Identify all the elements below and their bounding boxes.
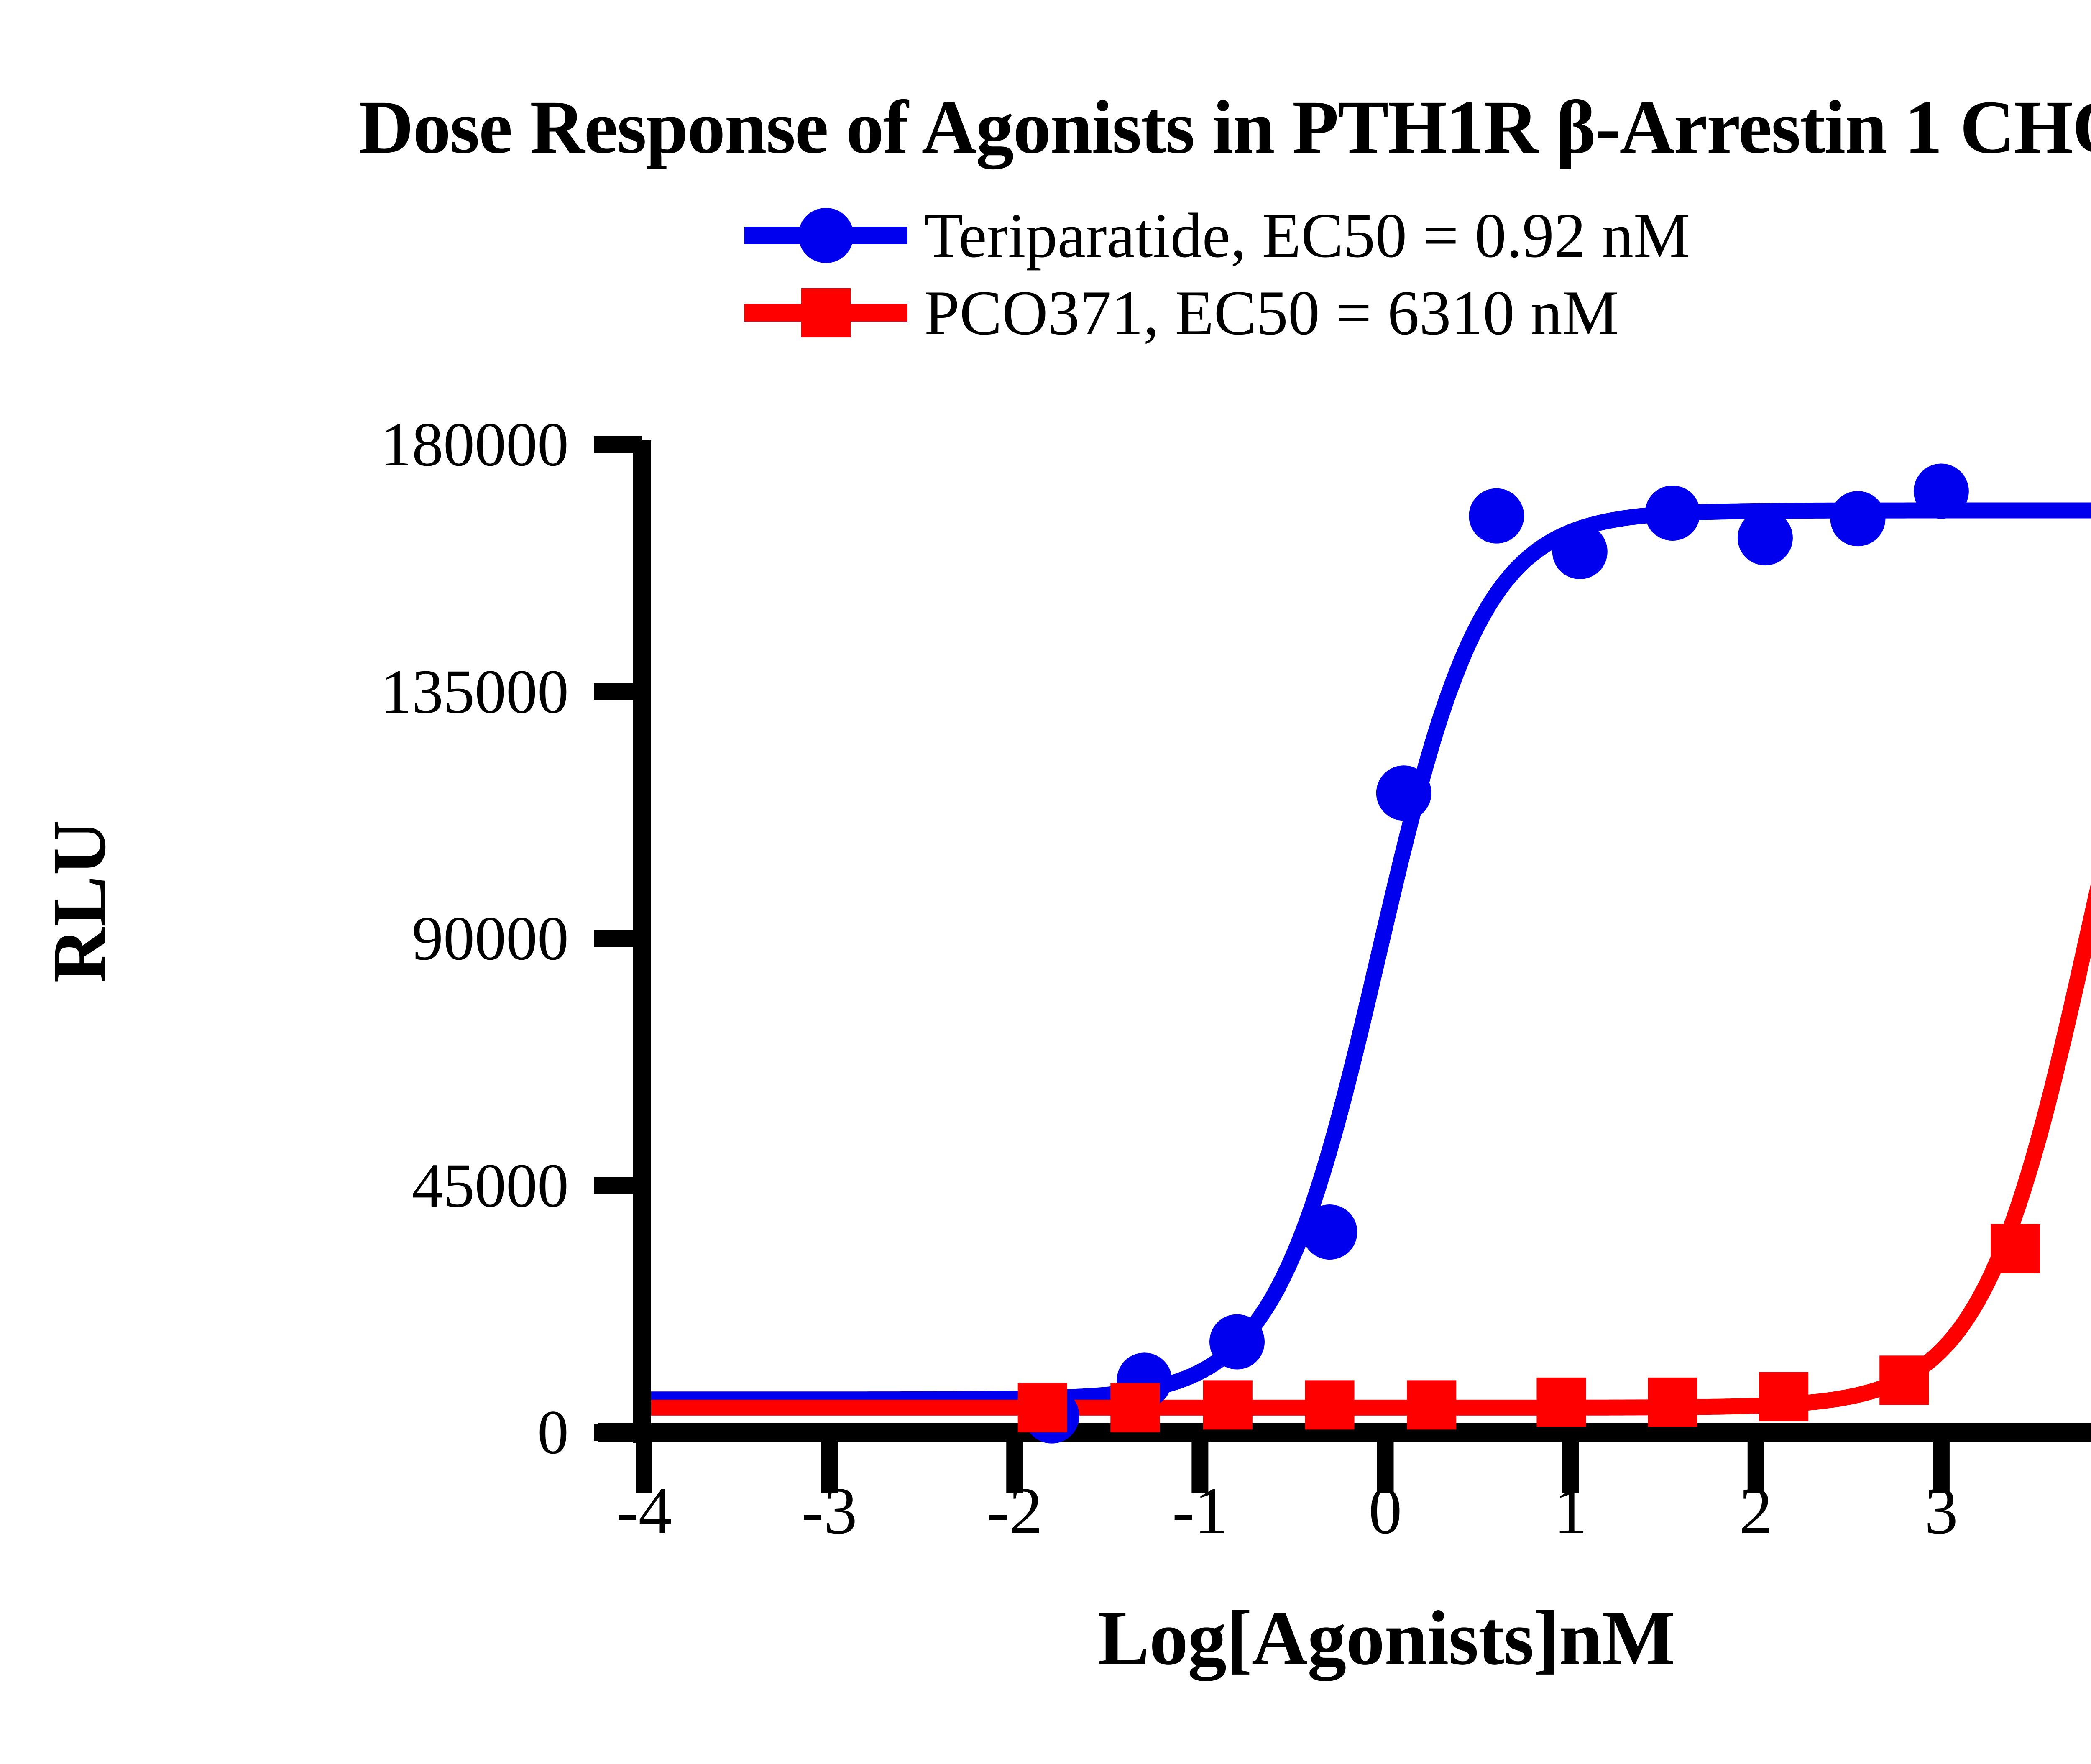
chart-container: Dose Response of Agonists in PTH1R β-Arr… bbox=[0, 0, 2091, 1764]
data-point-square bbox=[1536, 1378, 1586, 1427]
fit-curve-pco371 bbox=[644, 766, 2091, 1408]
data-point-circle bbox=[1738, 510, 1793, 565]
data-point-circle bbox=[1552, 524, 1608, 579]
data-point-square bbox=[1305, 1380, 1355, 1429]
data-point-circle bbox=[1209, 1314, 1265, 1369]
data-point-circle bbox=[1645, 486, 1700, 541]
data-point-square bbox=[1648, 1378, 1697, 1427]
axis-ticks bbox=[594, 445, 2091, 1493]
data-point-square bbox=[1110, 1383, 1160, 1432]
data-point-square bbox=[1407, 1380, 1456, 1429]
data-points-teriparatide bbox=[1024, 464, 1969, 1444]
fit-curve-teriparatide bbox=[644, 511, 2091, 1400]
data-point-square bbox=[1991, 1224, 2040, 1273]
data-point-circle bbox=[1376, 765, 1431, 821]
data-point-circle bbox=[1302, 1204, 1357, 1260]
axis-lines bbox=[598, 440, 2091, 1443]
data-point-square bbox=[1018, 1383, 1067, 1432]
data-point-circle bbox=[1914, 464, 1969, 519]
data-point-square bbox=[1759, 1372, 1808, 1421]
plot-area bbox=[0, 0, 2091, 1764]
data-point-square bbox=[1879, 1355, 1929, 1405]
data-point-circle bbox=[1830, 491, 1885, 546]
data-point-circle bbox=[1469, 488, 1524, 544]
data-point-square bbox=[1203, 1380, 1253, 1429]
